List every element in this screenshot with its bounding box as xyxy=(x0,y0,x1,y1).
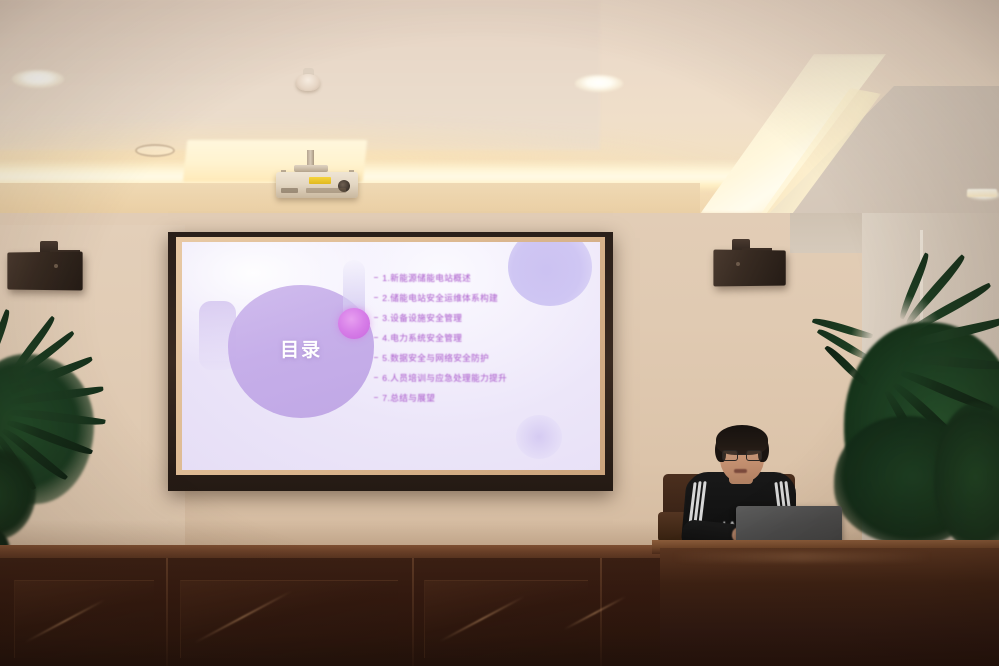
projector-label xyxy=(309,177,331,184)
bullet-icon xyxy=(374,337,378,338)
speaker-led-icon xyxy=(54,264,58,268)
conference-room-scene: 目录 1. 新能源储能电站概述 2. 储能电站安全运维体系构建 3. xyxy=(0,0,999,666)
glasses-bridge xyxy=(738,454,746,455)
bullet-icon xyxy=(374,297,378,298)
bullet-icon xyxy=(374,277,378,278)
projection-screen: 目录 1. 新能源储能电站概述 2. 储能电站安全运维体系构建 3. xyxy=(168,232,613,491)
glasses-icon xyxy=(722,450,763,461)
downlight-icon xyxy=(575,75,623,92)
bullet-icon xyxy=(374,357,378,358)
toc-item-text: 设备设施安全管理 xyxy=(390,312,462,324)
toc-item-text: 人员培训与应急处理能力提升 xyxy=(390,372,507,384)
panel-seam xyxy=(600,558,602,666)
speaker-cabinet xyxy=(713,250,785,287)
toc-item-text: 数据安全与网络安全防护 xyxy=(390,352,489,364)
potted-palm-right xyxy=(838,312,999,562)
downlight-ring-icon xyxy=(135,144,175,157)
projector-brand-mark xyxy=(281,188,298,193)
mouth xyxy=(734,469,747,473)
toc-item-text: 储能电站安全运维体系构建 xyxy=(390,292,498,304)
projector-model-mark xyxy=(306,188,346,193)
speaker-led-icon xyxy=(736,262,740,266)
presenter: LA xyxy=(666,424,841,554)
bullet-icon xyxy=(374,317,378,318)
podium-panel xyxy=(424,580,588,658)
toc-item-text: 新能源储能电站概述 xyxy=(390,272,471,284)
bullet-icon xyxy=(374,397,378,398)
downlight-icon xyxy=(12,70,64,88)
smoke-detector-icon xyxy=(296,74,320,91)
toc-item: 2. 储能电站安全运维体系构建 xyxy=(374,292,587,304)
toc-item: 6. 人员培训与应急处理能力提升 xyxy=(374,372,587,384)
toc-item-text: 总结与展望 xyxy=(390,392,435,404)
podium-panel xyxy=(14,580,154,658)
slide-heading: 目录 xyxy=(251,335,351,362)
toc-item: 1. 新能源储能电站概述 xyxy=(374,272,587,284)
panel-seam xyxy=(166,558,168,666)
slide-decor-circle-bottom-right xyxy=(516,415,562,458)
column-linear-light xyxy=(967,189,997,197)
toc-item: 7. 总结与展望 xyxy=(374,392,587,404)
slide-decor-dot xyxy=(338,308,370,339)
toc-item: 3. 设备设施安全管理 xyxy=(374,312,587,324)
bullet-icon xyxy=(374,377,378,378)
slide-surface: 目录 1. 新能源储能电站概述 2. 储能电站安全运维体系构建 3. xyxy=(182,242,600,470)
glasses-lens-right xyxy=(746,450,762,461)
projector-plate xyxy=(294,165,328,172)
screen-inner-border: 目录 1. 新能源储能电站概述 2. 储能电站安全运维体系构建 3. xyxy=(176,237,605,475)
glasses-lens-left xyxy=(722,450,738,461)
toc-item-text: 电力系统安全管理 xyxy=(390,332,462,344)
panel-seam xyxy=(412,558,414,666)
potted-palm-left xyxy=(0,330,154,560)
slide-toc-list: 1. 新能源储能电站概述 2. 储能电站安全运维体系构建 3. 设备设施安全管理 xyxy=(374,272,587,412)
desk-front xyxy=(660,548,999,666)
speaker-cabinet xyxy=(7,251,82,290)
toc-item: 5. 数据安全与网络安全防护 xyxy=(374,352,587,364)
toc-item: 4. 电力系统安全管理 xyxy=(374,332,587,344)
